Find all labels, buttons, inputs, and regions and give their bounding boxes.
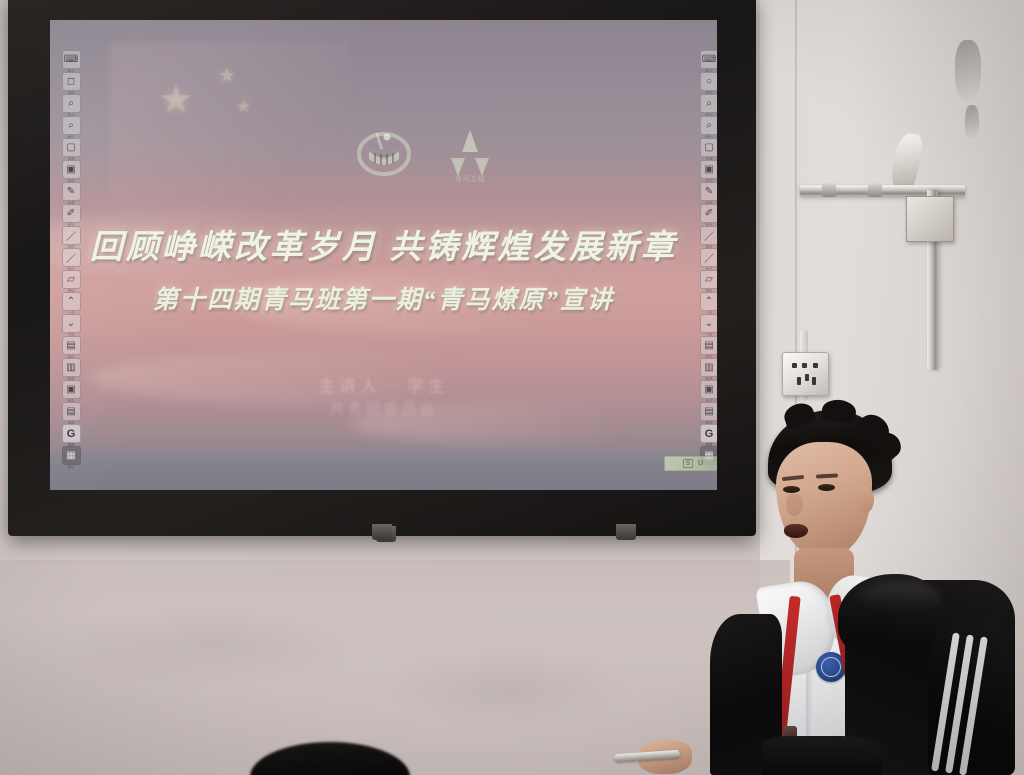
pipe-clip [822,183,836,197]
emblem-wreath-logo [355,123,413,179]
whiteboard-screen[interactable]: ★ ★ ★ 青马工程 回顾峥嵘改革岁月 共铸辉煌发展新章 第十四期 [50,20,717,490]
zoom-in-icon-glyph: ⌕ [68,98,74,109]
line-icon-glyph: ／ [66,228,76,243]
line-icon[interactable]: ／直线 [700,226,718,245]
slide-organization-line: 共青团委员会 [50,398,717,419]
pen-icon[interactable]: ✎画笔 [62,182,81,201]
classroom-scene: ★ ★ ★ 青马工程 回顾峥嵘改革岁月 共铸辉煌发展新章 第十四期 [0,0,1024,775]
socket-hole [792,363,797,368]
keyboard-icon-glyph: ⌨ [702,54,716,65]
keyboard-panel-icon-glyph: ▤ [66,406,75,417]
marker-icon[interactable]: ／标记 [62,248,81,267]
zoom-out-icon[interactable]: ⌕缩小 [700,116,718,135]
chevron-down-icon[interactable]: ⌄下页 [62,314,81,333]
jacket-sleeve [928,618,1014,775]
lock-icon[interactable]: ▣锁定 [62,380,81,399]
marker-icon-glyph: ／ [704,250,714,265]
save-icon[interactable]: ▤保存 [700,336,718,355]
save-icon-glyph: ▤ [66,340,75,351]
keyboard-icon-glyph: ⌨ [64,54,78,65]
presenter-ear [856,486,874,513]
slide-star-icon: ★ [236,98,251,115]
slide-star-icon: ★ [158,80,194,120]
board-mount-bracket-left [372,524,392,540]
zoom-in-icon[interactable]: ⌕放大 [62,94,81,113]
conduit-junction-box [906,196,954,242]
chevron-up-icon[interactable]: ⌃上页 [700,292,718,311]
chevron-down-icon[interactable]: ⌄下页 [700,314,718,333]
socket-hole [813,363,818,368]
highlighter-icon-glyph: ✐ [705,208,713,219]
copy-page-icon-glyph: ▣ [66,164,75,175]
lock-icon-glyph: ▣ [66,384,75,395]
highlighter-icon[interactable]: ✐荧光 [700,204,718,223]
eraser-icon[interactable]: ▱擦除 [700,270,718,289]
screenshot-icon[interactable]: ▥截屏 [62,358,81,377]
google-icon[interactable]: G浏览 [62,424,81,443]
screenshot-icon-glyph: ▥ [66,362,75,373]
screenshot-icon-glyph: ▥ [704,362,713,373]
slide-title: 回顾峥嵘改革岁月 共铸辉煌发展新章 [50,220,717,268]
tool-label: 退出 [63,465,80,470]
keyboard-icon[interactable]: ⌨输入 [700,50,718,69]
arrow-mark-logo-label: 青马工程 [435,174,505,184]
highlighter-icon[interactable]: ✐荧光 [62,204,81,223]
lock-icon-glyph: ▣ [704,384,713,395]
presenter-person [690,400,1024,775]
page-icon[interactable]: ▢页面 [62,138,81,157]
pen-icon[interactable]: ✎画笔 [700,182,718,201]
wall-crack [955,40,981,100]
page-icon-glyph: ▢ [704,142,713,153]
projected-slide: ★ ★ ★ 青马工程 回顾峥嵘改革岁月 共铸辉煌发展新章 第十四期 [50,20,717,490]
exit-icon[interactable]: ▦退出 [62,446,81,465]
exit-icon-glyph: ▦ [66,450,75,461]
jacket-shoulder-highlight [860,582,940,610]
google-icon-glyph: G [67,428,76,440]
zoom-in-icon[interactable]: ⌕放大 [700,94,718,113]
page-icon-glyph: ▢ [66,142,75,153]
copy-page-icon-glyph: ▣ [704,164,713,175]
whiteboard-toolbar-left[interactable]: ⌨输入◻选择⌕放大⌕缩小▢页面▣复制✎画笔✐荧光／直线／标记▱擦除⌃上页⌄下页▤… [60,50,82,465]
crest-inner-ring [821,657,841,677]
pen-icon-glyph: ✎ [705,186,713,197]
hair-spike [821,398,857,423]
pipe-clip [868,183,882,197]
pen-icon-glyph: ✎ [67,186,75,197]
wall-scuff [60,600,360,690]
select-icon[interactable]: ◻选择 [62,72,81,91]
zoom-out-icon-glyph: ⌕ [68,120,74,131]
marker-icon-glyph: ／ [66,250,76,265]
eraser-icon-glyph: ▱ [705,274,713,285]
zoom-out-icon-glyph: ⌕ [706,120,712,131]
page-icon[interactable]: ▢页面 [700,138,718,157]
chevron-down-icon-glyph: ⌄ [705,318,713,329]
select-icon-glyph: ○ [706,76,712,87]
chevron-up-icon[interactable]: ⌃上页 [62,292,81,311]
chevron-up-icon-glyph: ⌃ [67,296,75,307]
lock-icon[interactable]: ▣锁定 [700,380,718,399]
save-icon[interactable]: ▤保存 [62,336,81,355]
keyboard-icon[interactable]: ⌨输入 [62,50,81,69]
select-icon-glyph: ◻ [67,76,75,87]
line-icon[interactable]: ／直线 [62,226,81,245]
highlighter-icon-glyph: ✐ [67,208,75,219]
wall-crack [965,105,979,139]
interactive-whiteboard[interactable]: ★ ★ ★ 青马工程 回顾峥嵘改革岁月 共铸辉煌发展新章 第十四期 [8,0,756,536]
presenter-eye [818,484,835,491]
presenter-eye [783,486,800,493]
keyboard-panel-icon[interactable]: ▤键盘 [62,402,81,421]
socket-hole [802,363,807,368]
slide-presenter-line: 主讲人 · 学生 [50,372,717,397]
copy-page-icon[interactable]: ▣复制 [700,160,718,179]
eraser-icon-glyph: ▱ [67,274,75,285]
line-icon-glyph: ／ [704,228,714,243]
select-icon[interactable]: ○选择 [700,72,718,91]
wall-power-socket[interactable] [782,352,829,396]
slide-subtitle: 第十四期青马班第一期“青马燎原”宣讲 [50,280,717,316]
chevron-up-icon-glyph: ⌃ [705,296,713,307]
board-mount-bracket-right [616,524,636,540]
socket-hole [812,377,816,385]
save-icon-glyph: ▤ [704,340,713,351]
copy-page-icon[interactable]: ▣复制 [62,160,81,179]
marker-icon[interactable]: ／标记 [700,248,718,267]
presenter-arm [762,736,882,775]
socket-hole [797,377,801,385]
zoom-in-icon-glyph: ⌕ [706,98,712,109]
slide-star-icon: ★ [218,66,236,86]
eraser-icon[interactable]: ▱擦除 [62,270,81,289]
socket-hole [805,374,809,381]
wall-scuff [380,650,640,730]
slide-horizon-band [50,452,717,490]
screenshot-icon[interactable]: ▥截屏 [700,358,718,377]
chevron-down-icon-glyph: ⌄ [67,318,75,329]
zoom-out-icon[interactable]: ⌕缩小 [62,116,81,135]
